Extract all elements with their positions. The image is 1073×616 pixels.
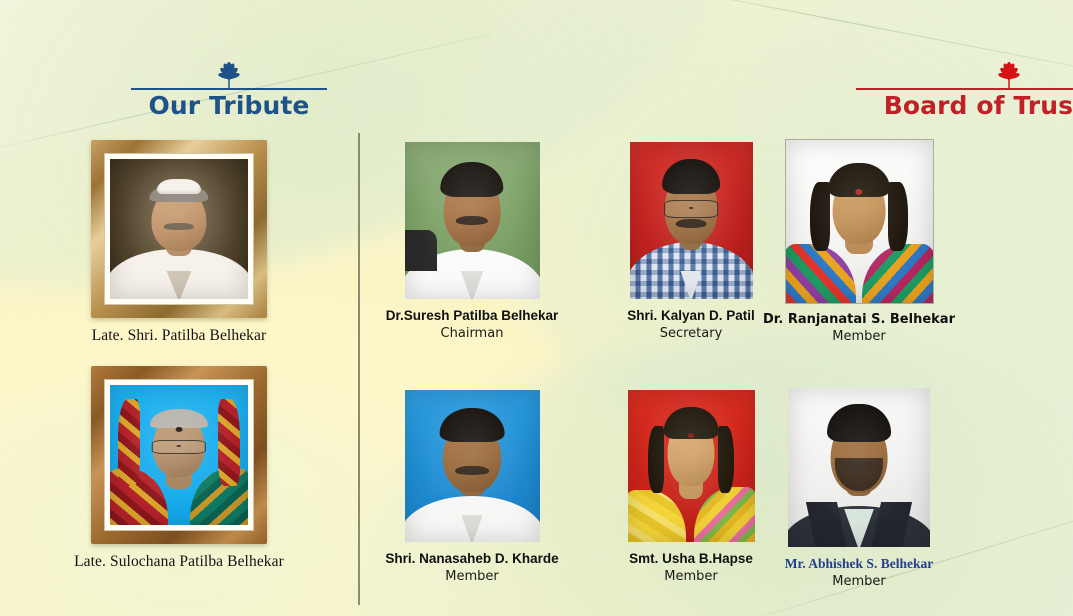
- tribute-card: Late. Shri. Patilba Belhekar: [54, 140, 304, 345]
- lotus-icon: [992, 62, 1026, 90]
- page-root: Our Tribute: [0, 0, 1073, 616]
- tribute-photo-patilba: [110, 159, 248, 299]
- trustee-role: Member: [367, 569, 577, 586]
- tribute-photo-sulochana: [110, 385, 248, 525]
- trustee-photo-usha: [628, 390, 755, 542]
- trustee-photo-kalyan: [630, 142, 753, 299]
- trustee-name: Mr. Abhishek S. Belhekar: [754, 556, 964, 573]
- board-heading: Board of Trustees: [856, 88, 1073, 121]
- trustee-photo-nanasaheb: [405, 390, 540, 542]
- trustee-card-abhishek: Mr. Abhishek S. Belhekar Member: [754, 388, 964, 591]
- board-heading-title: Board of Trustees: [856, 91, 1073, 121]
- trustee-card-chairman: Dr.Suresh Patilba Belhekar Chairman: [367, 142, 577, 343]
- tribute-column: Our Tribute: [0, 0, 358, 616]
- picture-frame: [91, 140, 267, 318]
- tribute-heading-title: Our Tribute: [131, 91, 327, 121]
- frame-mat: [104, 153, 254, 305]
- tribute-heading: Our Tribute: [131, 88, 327, 121]
- trustee-name: Dr. Ranjanatai S. Belhekar: [754, 312, 964, 328]
- trustee-photo-ranjanatai: [786, 140, 933, 303]
- trustee-card-ranjanatai: Dr. Ranjanatai S. Belhekar Member: [754, 140, 964, 346]
- tribute-name: Late. Sulochana Patilba Belhekar: [54, 553, 304, 571]
- tribute-name: Late. Shri. Patilba Belhekar: [54, 327, 304, 345]
- board-column: Board of Trustees Dr.Suresh Patilba: [358, 0, 1073, 616]
- trustee-photo-suresh: [405, 142, 540, 299]
- picture-frame: [91, 366, 267, 544]
- trustee-role: Member: [754, 574, 964, 591]
- tribute-card: Late. Sulochana Patilba Belhekar: [54, 366, 304, 571]
- board-heading-rule: [856, 88, 1073, 90]
- trustee-card-nanasaheb: Shri. Nanasaheb D. Kharde Member: [367, 390, 577, 586]
- lotus-icon: [212, 62, 246, 90]
- trustee-name: Shri. Nanasaheb D. Kharde: [367, 551, 577, 568]
- frame-mat: [104, 379, 254, 531]
- trustee-role: Member: [754, 329, 964, 346]
- trustee-name: Dr.Suresh Patilba Belhekar: [367, 308, 577, 325]
- trustee-role: Chairman: [367, 326, 577, 343]
- trustee-photo-abhishek: [788, 388, 930, 547]
